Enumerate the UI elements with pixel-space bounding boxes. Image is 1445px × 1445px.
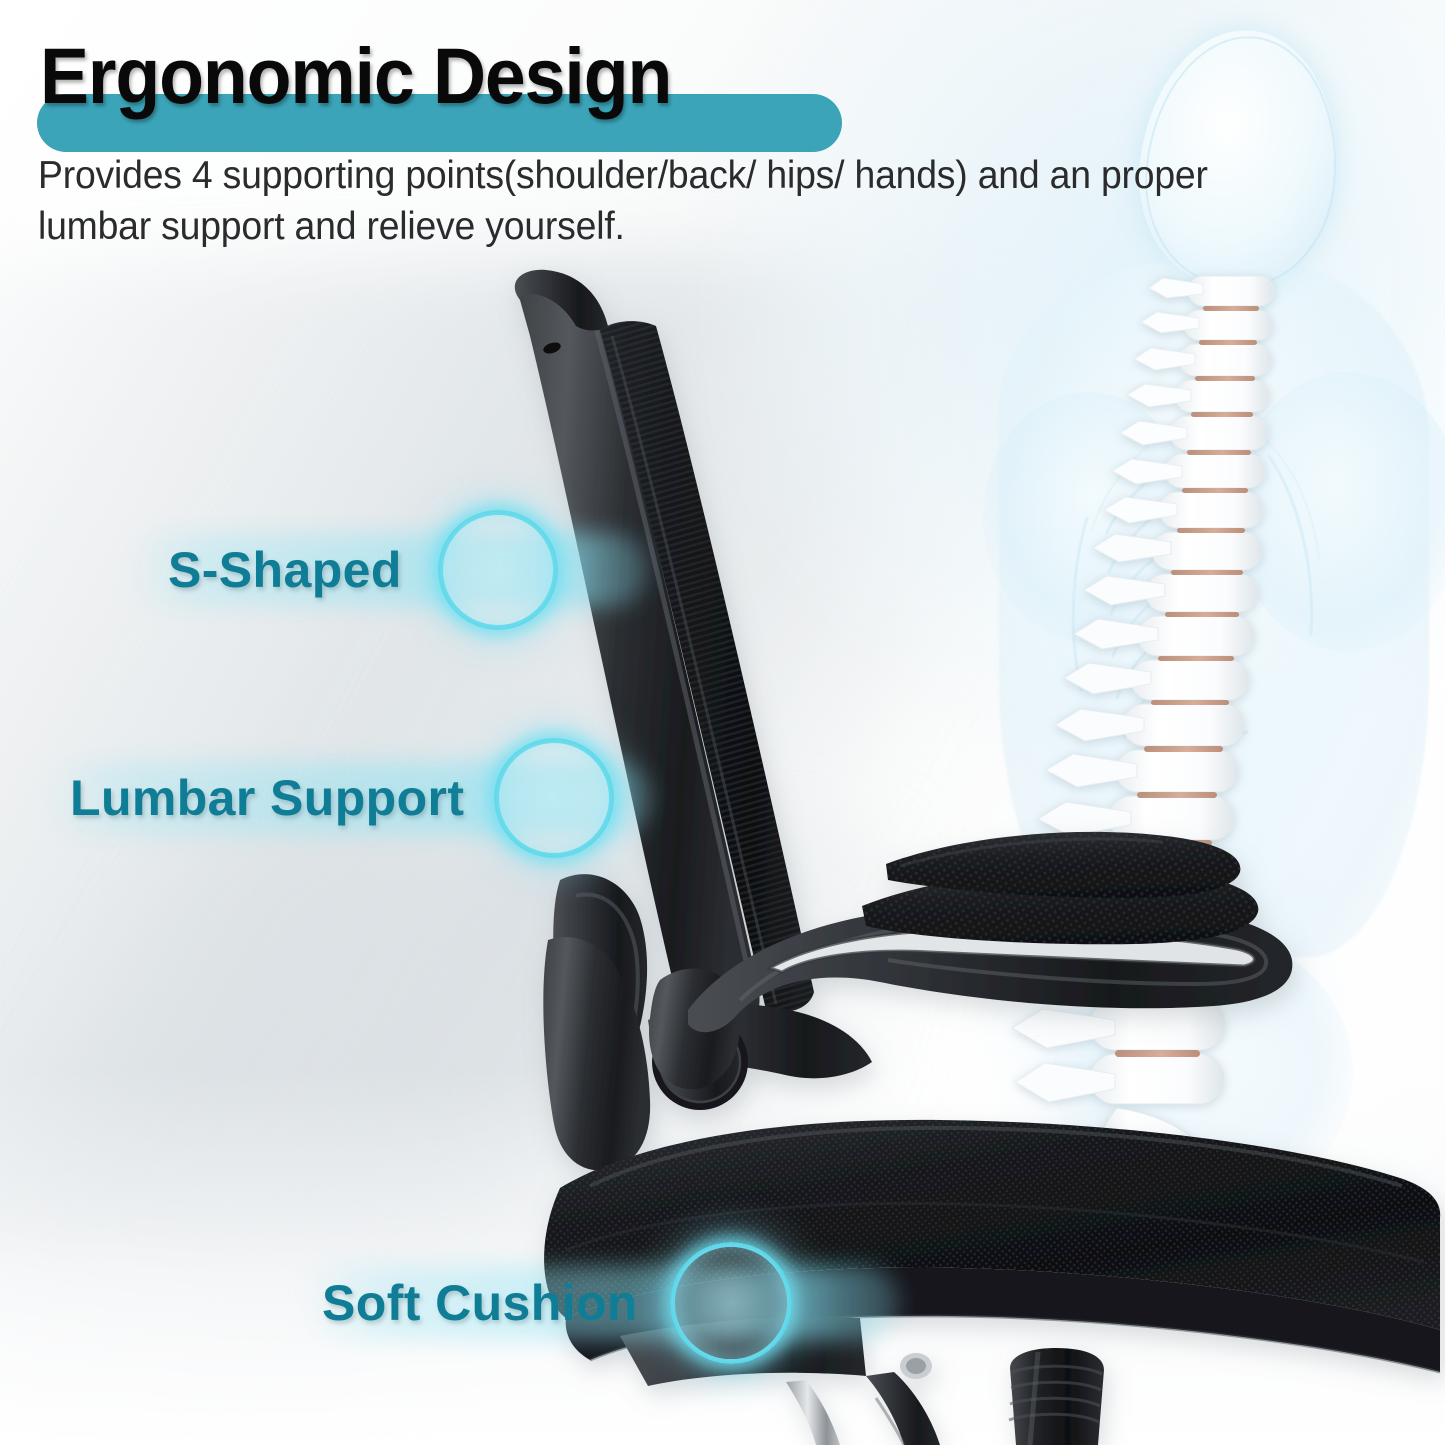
page-title: Ergonomic Design [40,24,671,128]
page-subtitle: Provides 4 supporting points(shoulder/ba… [38,150,1260,252]
callout-label-soft-cushion: Soft Cushion [322,1274,638,1332]
callout-soft-cushion: Soft Cushion [300,1243,792,1363]
headline-block: Ergonomic Design [34,24,934,136]
callout-lumbar-support: Lumbar Support [42,738,614,858]
sacrum [1095,1108,1206,1230]
callout-ring-icon [494,738,614,858]
product-feature-infographic: Ergonomic Design Provides 4 supporting p… [0,0,1445,1445]
callout-ring-icon [438,510,558,630]
callout-s-shaped: S-Shaped [128,510,558,630]
callout-label-lumbar-support: Lumbar Support [70,769,464,827]
callout-label-s-shaped: S-Shaped [168,541,402,599]
callout-ring-icon [670,1242,792,1364]
thoracic-vertebrae [1030,532,1262,888]
